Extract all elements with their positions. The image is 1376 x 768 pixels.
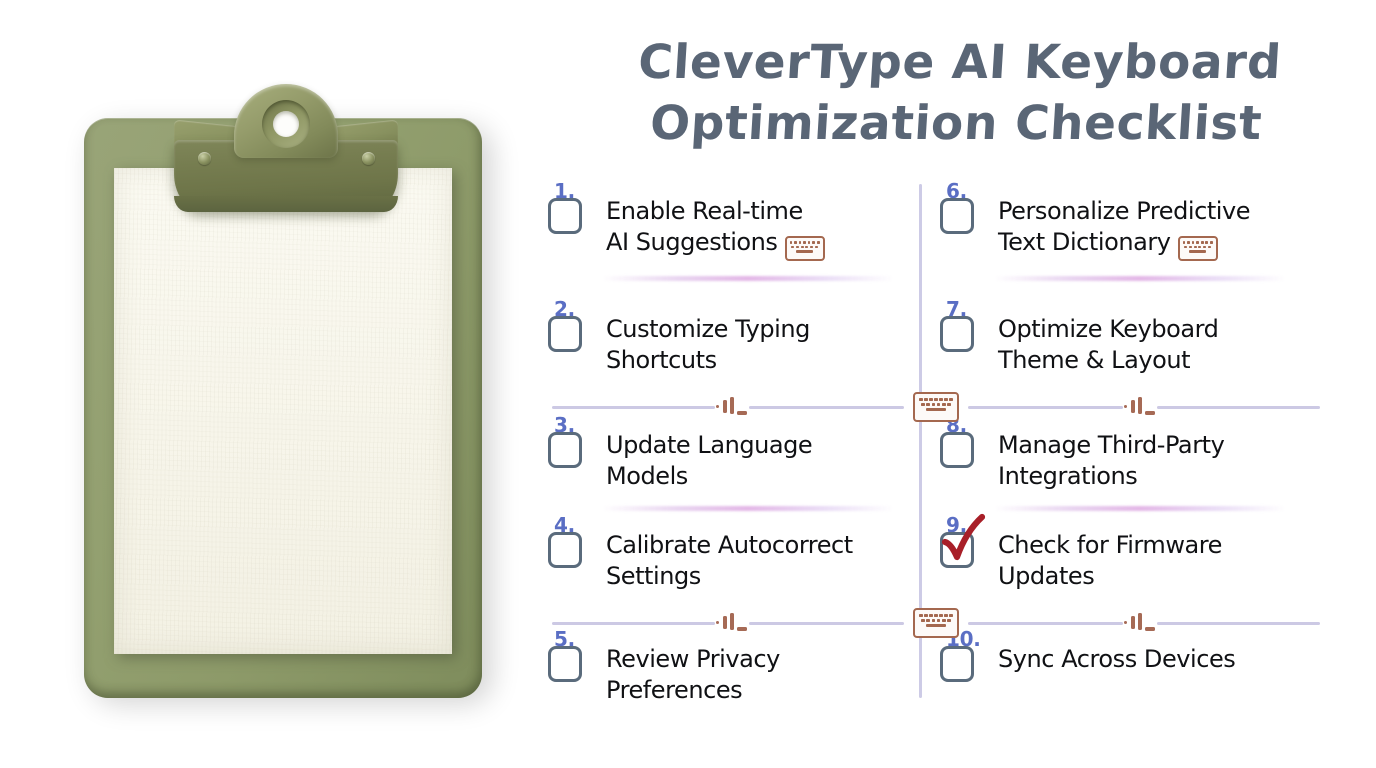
keyboard-icon xyxy=(1178,236,1218,261)
item-label-2-line-2: Shortcuts xyxy=(606,346,717,374)
checklist-item-5[interactable]: 5. Review Privacy Preferences xyxy=(548,642,908,706)
checklist-grid: 1. Enable Real-time AI Suggestions 2. Cu… xyxy=(548,176,1368,706)
keyboard-icon xyxy=(785,236,825,261)
checklist-item-7[interactable]: 7. Optimize Keyboard Theme & Layout xyxy=(940,312,1300,376)
item-label-7-line-2: Theme & Layout xyxy=(998,346,1190,374)
item-label-2-line-1: Customize Typing xyxy=(606,315,810,343)
checkbox-group-6: 6. xyxy=(940,194,986,234)
band-segment xyxy=(552,406,715,409)
clip-hole xyxy=(273,111,299,137)
checklist-item-6[interactable]: 6. Personalize Predictive Text Dictionar… xyxy=(940,194,1300,261)
section-band-2 xyxy=(548,608,1368,638)
band-segment xyxy=(749,622,904,625)
band-segment xyxy=(968,406,1123,409)
item-label-6: Personalize Predictive Text Dictionary xyxy=(998,194,1250,261)
item-label-4: Calibrate Autocorrect Settings xyxy=(606,528,853,592)
item-label-7-line-1: Optimize Keyboard xyxy=(998,315,1218,343)
checklist-item-2[interactable]: 2. Customize Typing Shortcuts xyxy=(548,312,908,376)
item-label-2: Customize Typing Shortcuts xyxy=(606,312,810,376)
page-title: CleverType AI Keyboard Optimization Chec… xyxy=(536,32,1376,154)
section-band-1 xyxy=(548,392,1368,422)
clip-rivet-right xyxy=(362,152,375,165)
clip-rivet-left xyxy=(198,152,211,165)
item-label-4-line-1: Calibrate Autocorrect xyxy=(606,531,853,559)
checkbox-9[interactable] xyxy=(940,532,974,568)
checkbox-group-10: 10. xyxy=(940,642,986,682)
clip-lip xyxy=(174,196,398,212)
clipboard-paper-texture xyxy=(114,168,452,654)
checklist-item-3[interactable]: 3. Update Language Models xyxy=(548,428,908,492)
item-label-8-line-1: Manage Third-Party xyxy=(998,431,1224,459)
keyboard-icon xyxy=(913,392,959,422)
checkbox-group-5: 5. xyxy=(548,642,594,682)
checkbox-2[interactable] xyxy=(548,316,582,352)
checklist-item-8[interactable]: 8. Manage Third-Party Integrations xyxy=(940,428,1300,492)
checklist-item-9[interactable]: 9. Check for Firmware Updates xyxy=(940,528,1300,592)
item-label-9-line-1: Check for Firmware xyxy=(998,531,1222,559)
item-label-5-line-2: Preferences xyxy=(606,676,742,704)
item-label-1-line-2: AI Suggestions xyxy=(606,228,778,256)
checkbox-10[interactable] xyxy=(940,646,974,682)
checkbox-1[interactable] xyxy=(548,198,582,234)
item-label-7: Optimize Keyboard Theme & Layout xyxy=(998,312,1218,376)
band-segment xyxy=(1157,622,1320,625)
checkbox-3[interactable] xyxy=(548,432,582,468)
band-segment xyxy=(552,622,715,625)
item-label-1: Enable Real-time AI Suggestions xyxy=(606,194,825,261)
checkbox-group-9: 9. xyxy=(940,528,986,568)
item-label-10: Sync Across Devices xyxy=(998,642,1235,675)
page-title-line-1: CleverType AI Keyboard xyxy=(540,32,1376,93)
keyboard-tick-glyph-icon xyxy=(715,396,749,418)
checklist-item-10[interactable]: 10. Sync Across Devices xyxy=(940,642,1300,682)
item-label-8-line-2: Integrations xyxy=(998,462,1137,490)
keyboard-tick-glyph-icon xyxy=(715,612,749,634)
checkbox-5[interactable] xyxy=(548,646,582,682)
band-segment xyxy=(968,622,1123,625)
soft-divider-2 xyxy=(602,506,894,511)
checkbox-7[interactable] xyxy=(940,316,974,352)
checklist-item-1[interactable]: 1. Enable Real-time AI Suggestions xyxy=(548,194,908,261)
checkbox-group-8: 8. xyxy=(940,428,986,468)
item-label-3-line-1: Update Language xyxy=(606,431,812,459)
band-segment xyxy=(749,406,904,409)
item-label-9: Check for Firmware Updates xyxy=(998,528,1222,592)
checkbox-8[interactable] xyxy=(940,432,974,468)
clipboard-clip xyxy=(168,84,404,219)
soft-divider-1 xyxy=(602,276,894,281)
soft-divider-4 xyxy=(994,506,1286,511)
item-label-4-line-2: Settings xyxy=(606,562,701,590)
item-label-5-line-1: Review Privacy xyxy=(606,645,780,673)
checkbox-6[interactable] xyxy=(940,198,974,234)
item-label-10-line-1: Sync Across Devices xyxy=(998,645,1235,673)
checkbox-group-7: 7. xyxy=(940,312,986,352)
item-label-6-line-1: Personalize Predictive xyxy=(998,197,1250,225)
checkbox-4[interactable] xyxy=(548,532,582,568)
keyboard-tick-glyph-icon xyxy=(1123,396,1157,418)
checklist-panel: CleverType AI Keyboard Optimization Chec… xyxy=(540,0,1376,768)
keyboard-tick-glyph-icon xyxy=(1123,612,1157,634)
item-label-9-line-2: Updates xyxy=(998,562,1094,590)
band-segment xyxy=(1157,406,1320,409)
checkbox-group-4: 4. xyxy=(548,528,594,568)
item-label-1-line-1: Enable Real-time xyxy=(606,197,803,225)
clipboard-illustration xyxy=(0,0,540,768)
item-label-8: Manage Third-Party Integrations xyxy=(998,428,1224,492)
keyboard-icon xyxy=(913,608,959,638)
checkbox-group-1: 1. xyxy=(548,194,594,234)
soft-divider-3 xyxy=(994,276,1286,281)
checklist-item-4[interactable]: 4. Calibrate Autocorrect Settings xyxy=(548,528,908,592)
item-label-5: Review Privacy Preferences xyxy=(606,642,780,706)
item-label-3-line-2: Models xyxy=(606,462,688,490)
page-title-line-2: Optimization Checklist xyxy=(536,93,1376,154)
checkbox-group-3: 3. xyxy=(548,428,594,468)
item-label-3: Update Language Models xyxy=(606,428,812,492)
checkbox-group-2: 2. xyxy=(548,312,594,352)
item-label-6-line-2: Text Dictionary xyxy=(998,228,1171,256)
